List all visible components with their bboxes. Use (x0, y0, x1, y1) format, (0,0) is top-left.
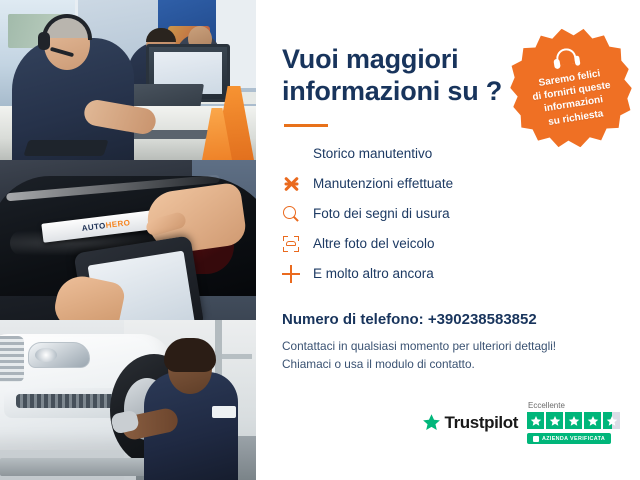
magnifier-icon (282, 205, 300, 223)
ruler-brand-hero: HERO (105, 218, 131, 230)
promo-banner: AUTOHERO (0, 0, 640, 480)
feature-list: Storico manutentivo Manutenzioni effettu… (282, 141, 640, 287)
ruler-brand: AUTOHERO (81, 219, 130, 233)
trustpilot-logo[interactable]: Trustpilot (422, 413, 518, 433)
call-center-photo (0, 0, 256, 160)
contact-text: Contattaci in qualsiasi momento per ulte… (282, 337, 640, 374)
list-item-label: Foto dei segni di usura (313, 207, 450, 221)
trustpilot-stars (527, 412, 620, 429)
phone-number[interactable]: Numero di telefono: +390238583852 (282, 311, 640, 328)
car-headlight-decor (28, 342, 90, 368)
list-item-label: Storico manutentivo (313, 147, 432, 161)
list-item-label: E molto altro ancora (313, 267, 434, 281)
verified-check-icon (533, 436, 539, 442)
service-badge: Saremo felici di fornirti queste informa… (502, 19, 639, 156)
verified-label: AZIENDA VERIFICATA (542, 436, 605, 442)
mechanic-logo-patch-decor (212, 406, 236, 418)
content-panel: Vuoi maggiori informazioni su ? Storico … (256, 0, 640, 480)
list-item: Manutenzioni effettuate (282, 171, 640, 197)
star-box (584, 412, 601, 429)
ruler-brand-auto: AUTO (81, 221, 106, 233)
list-item-label: Manutenzioni effettuate (313, 177, 453, 191)
headset-cup-decor (38, 32, 50, 50)
list-item: Altre foto del veicolo (282, 231, 640, 257)
list-item: E molto altro ancora (282, 261, 640, 287)
list-item: Foto dei segni di usura (282, 201, 640, 227)
car-lift-decor (0, 458, 150, 476)
paint-inspection-photo: AUTOHERO (0, 160, 256, 320)
tablet-on-desk-decor (23, 140, 108, 156)
tools-cross-icon (282, 175, 300, 193)
trustpilot-star-icon (422, 413, 441, 432)
photo-column: AUTOHERO (0, 0, 256, 480)
star-box (565, 412, 582, 429)
title-divider (284, 124, 328, 127)
workshop-wheel-photo (0, 320, 256, 480)
star-box (527, 412, 544, 429)
trustpilot-name: Trustpilot (445, 413, 518, 433)
headset-icon (552, 46, 581, 69)
star-box (546, 412, 563, 429)
trustpilot-rating-label: Eccellente (528, 401, 565, 410)
document-check-icon (282, 145, 300, 163)
list-item-label: Altre foto del veicolo (313, 237, 435, 251)
contact-line-1: Contattaci in qualsiasi momento per ulte… (282, 337, 640, 355)
verified-badge: AZIENDA VERIFICATA (527, 433, 611, 444)
trustpilot-widget[interactable]: Trustpilot Eccellente (422, 401, 620, 444)
contact-line-2: Chiamaci o usa il modulo di contatto. (282, 355, 640, 373)
mechanic-hair-decor (164, 338, 216, 372)
plus-icon (282, 265, 300, 283)
car-grille-decor (0, 336, 24, 382)
star-box-half (603, 412, 620, 429)
photo-scan-icon (282, 235, 300, 253)
trustpilot-rating-block: Eccellente (527, 401, 620, 444)
